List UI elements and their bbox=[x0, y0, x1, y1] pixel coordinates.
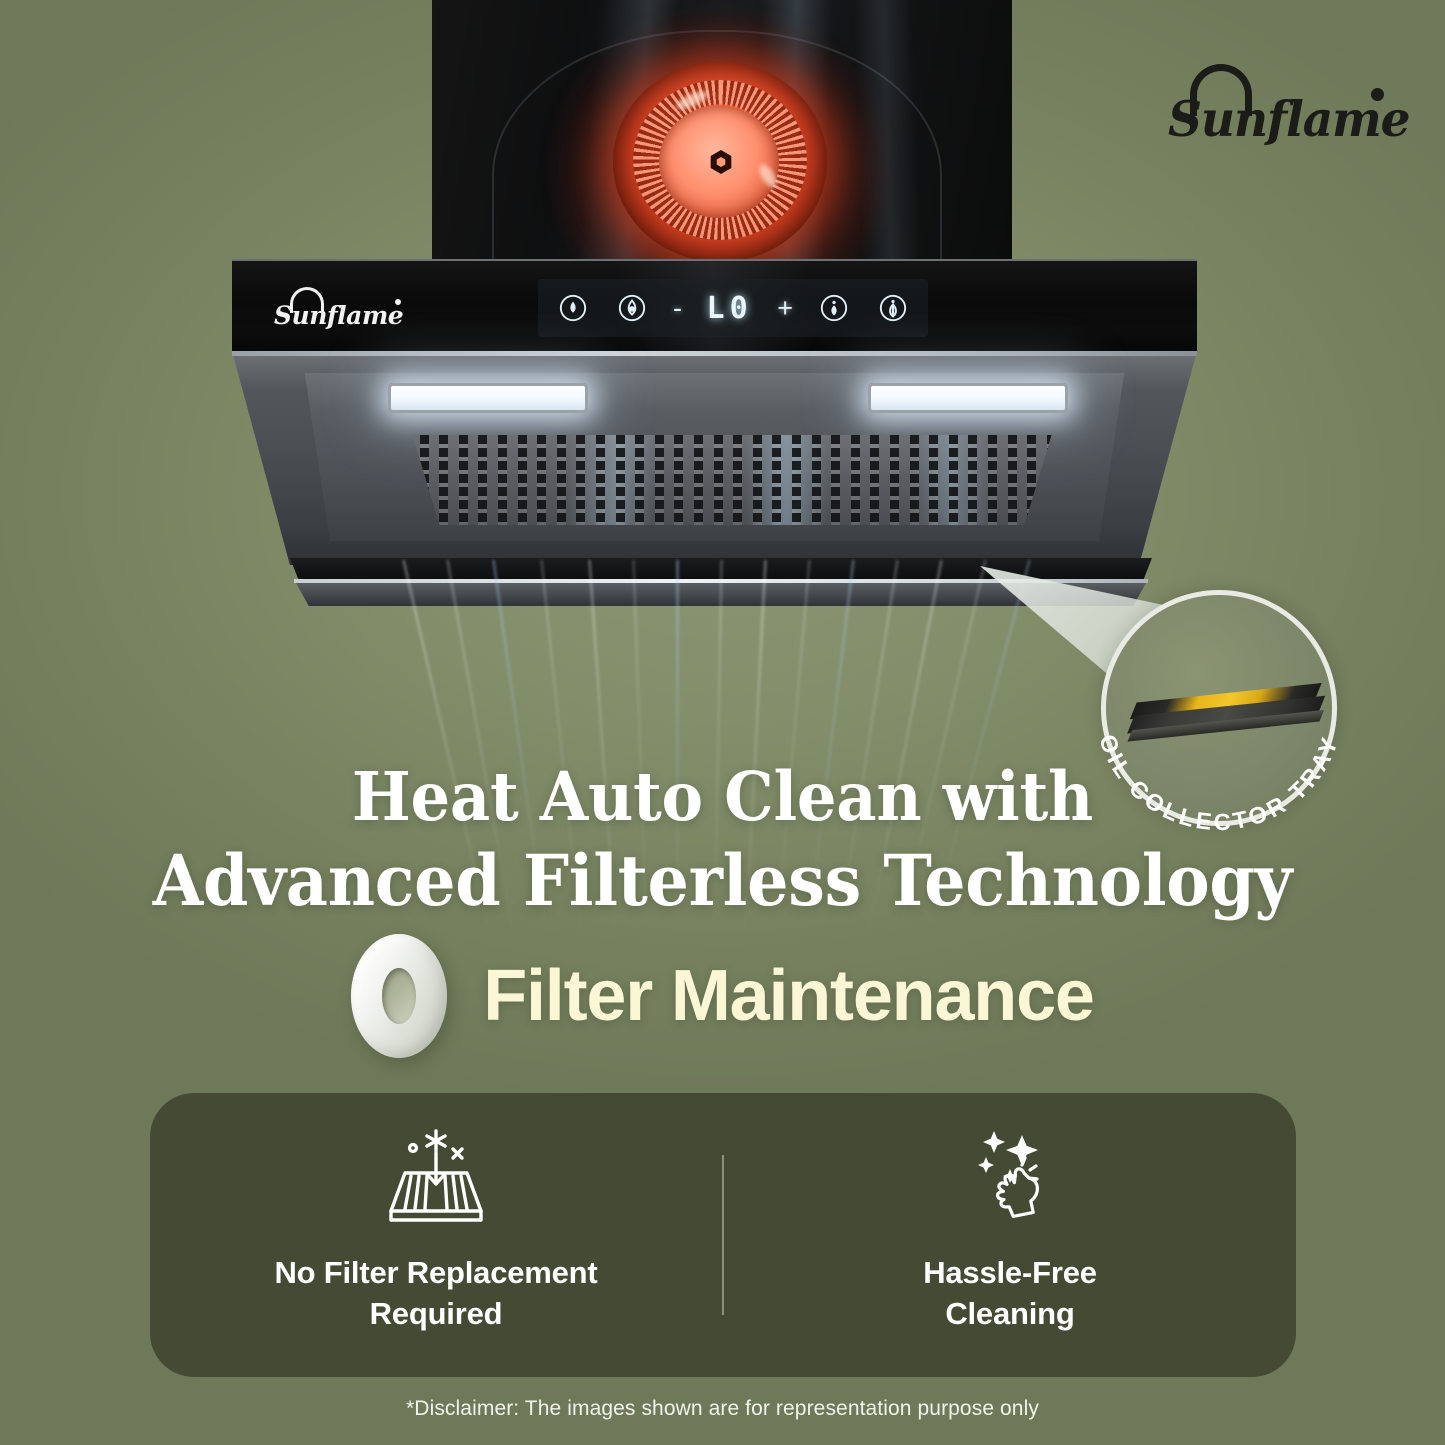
mesh-slot-column bbox=[870, 435, 879, 525]
zero-maintenance-row: Filter Maintenance bbox=[0, 934, 1445, 1058]
mesh-slot-column bbox=[772, 435, 781, 525]
disclaimer-text: *Disclaimer: The images shown are for re… bbox=[0, 1397, 1445, 1421]
mesh-slot-column bbox=[968, 435, 977, 525]
filterless-mesh-panel bbox=[392, 435, 1072, 525]
mesh-slot-column bbox=[655, 435, 664, 525]
feature-2-line-2: Cleaning bbox=[945, 1296, 1074, 1331]
mesh-slot-column bbox=[537, 435, 546, 525]
mesh-slot-column bbox=[929, 435, 938, 525]
mesh-slot-column bbox=[910, 435, 919, 525]
mesh-slot-column bbox=[694, 435, 703, 525]
mesh-slot-column bbox=[792, 435, 801, 525]
mesh-slot-column bbox=[635, 435, 644, 525]
chimney-body bbox=[232, 351, 1197, 565]
panel-brand-name: Sunflame bbox=[274, 301, 403, 330]
mesh-slot-column bbox=[812, 435, 821, 525]
speed-low-icon[interactable] bbox=[556, 291, 590, 325]
increase-button[interactable]: + bbox=[777, 295, 793, 322]
control-panel: Sunflame - L0 + bbox=[232, 259, 1197, 351]
mesh-slot-column bbox=[596, 435, 605, 525]
feature-label-1: No Filter Replacement Required bbox=[274, 1253, 597, 1335]
feature-1-line-2: Required bbox=[370, 1296, 503, 1331]
mesh-slot-column bbox=[988, 435, 997, 525]
mesh-slot-column bbox=[576, 435, 585, 525]
feature-label-2: Hassle-Free Cleaning bbox=[923, 1253, 1097, 1335]
highlight-text: Filter Maintenance bbox=[483, 960, 1094, 1032]
mesh-slot-column bbox=[1008, 435, 1017, 525]
mesh-slot-column bbox=[753, 435, 762, 525]
oil-collector-tray-icon bbox=[1128, 683, 1327, 743]
panel-logo-dot-icon bbox=[395, 299, 401, 305]
power-icon[interactable] bbox=[876, 291, 910, 325]
feature-cards: No Filter Replacement Required bbox=[150, 1093, 1296, 1377]
mesh-slot-column bbox=[831, 435, 840, 525]
filter-mesh-icon bbox=[361, 1123, 511, 1235]
touch-control-bar[interactable]: - L0 + bbox=[538, 279, 928, 337]
led-light-left bbox=[388, 383, 588, 413]
feature-2-line-1: Hassle-Free bbox=[923, 1255, 1097, 1290]
mesh-slot-column bbox=[733, 435, 742, 525]
feature-1-line-1: No Filter Replacement bbox=[274, 1255, 597, 1290]
led-light-right bbox=[868, 383, 1068, 413]
zero-numeral-icon bbox=[351, 934, 447, 1058]
headline-line-2: Advanced Filterless Technology bbox=[51, 838, 1395, 923]
headline-line-1: Heat Auto Clean with bbox=[352, 757, 1093, 836]
promo-banner: Sunflame Sunflame bbox=[0, 0, 1445, 1445]
heater-blower-glow bbox=[613, 62, 827, 262]
mesh-slot-column bbox=[616, 435, 625, 525]
zero-hole bbox=[382, 968, 416, 1024]
chimney-top-edge bbox=[232, 351, 1197, 356]
mesh-slot-column bbox=[851, 435, 860, 525]
speed-medium-icon[interactable] bbox=[615, 291, 649, 325]
mesh-slot-column bbox=[890, 435, 899, 525]
speed-display: L0 bbox=[707, 291, 753, 326]
headline: Heat Auto Clean with Advanced Filterless… bbox=[51, 756, 1395, 923]
panel-brand-logo: Sunflame bbox=[274, 287, 414, 333]
sparkle-hand-icon bbox=[950, 1123, 1070, 1235]
mesh-slot-column bbox=[674, 435, 683, 525]
feature-card-hassle-free-cleaning: Hassle-Free Cleaning bbox=[724, 1093, 1296, 1377]
mesh-slot-column bbox=[949, 435, 958, 525]
mesh-slot-column bbox=[439, 435, 448, 525]
decrease-button[interactable]: - bbox=[673, 295, 682, 322]
mesh-slot-column bbox=[478, 435, 487, 525]
mesh-slot-column bbox=[714, 435, 723, 525]
mesh-slot-column bbox=[498, 435, 507, 525]
mesh-slot-column bbox=[459, 435, 468, 525]
product-image-chimney: Sunflame - L0 + bbox=[0, 0, 1445, 680]
mesh-slot-column bbox=[557, 435, 566, 525]
feature-card-no-filter-replacement: No Filter Replacement Required bbox=[150, 1093, 722, 1377]
mesh-slot-column bbox=[518, 435, 527, 525]
auto-clean-icon[interactable] bbox=[817, 291, 851, 325]
